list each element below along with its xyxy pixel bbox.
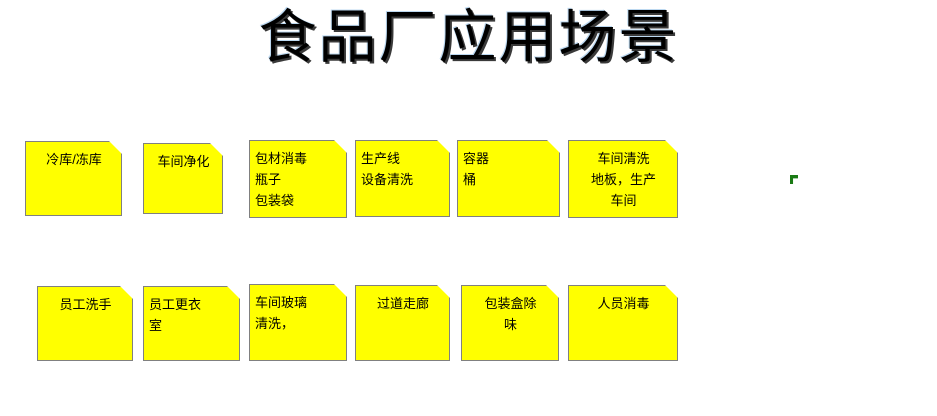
note-box-label: 车间清洗 地板，生产 车间 xyxy=(574,148,673,211)
note-box-label: 车间净化 xyxy=(149,151,218,172)
note-box-label: 生产线 设备清洗 xyxy=(361,148,445,190)
green-flag-icon xyxy=(790,175,798,184)
note-box-personnel-disinfection[interactable]: 人员消毒 xyxy=(568,285,678,361)
note-box-workshop-glass-cleaning[interactable]: 车间玻璃 清洗， xyxy=(249,284,347,361)
note-box-employee-locker-room[interactable]: 员工更衣 室 xyxy=(143,286,240,361)
note-box-employee-handwash[interactable]: 员工洗手 xyxy=(37,286,133,361)
note-box-workshop-cleaning[interactable]: 车间清洗 地板，生产 车间 xyxy=(568,140,678,218)
note-box-production-line[interactable]: 生产线 设备清洗 xyxy=(355,140,450,217)
note-box-label: 员工更衣 室 xyxy=(149,294,235,336)
note-box-label: 车间玻璃 清洗， xyxy=(255,292,342,334)
note-box-packaging-deodorize[interactable]: 包装盒除 味 xyxy=(461,285,559,361)
page-title: 食品厂应用场景 xyxy=(0,2,937,74)
note-box-container[interactable]: 容器 桶 xyxy=(457,140,560,217)
note-box-corridor[interactable]: 过道走廊 xyxy=(355,285,450,361)
note-box-label: 员工洗手 xyxy=(43,294,128,315)
note-box-workshop-purification[interactable]: 车间净化 xyxy=(143,143,223,214)
note-box-label: 包装盒除 味 xyxy=(467,293,554,335)
note-box-label: 过道走廊 xyxy=(361,293,445,314)
note-box-packaging-disinfection[interactable]: 包材消毒 瓶子 包装袋 xyxy=(249,140,347,218)
note-box-label: 容器 桶 xyxy=(463,148,555,190)
note-box-label: 冷库/冻库 xyxy=(31,149,117,170)
note-box-cold-storage[interactable]: 冷库/冻库 xyxy=(25,141,122,216)
note-box-label: 人员消毒 xyxy=(574,293,673,314)
note-box-label: 包材消毒 瓶子 包装袋 xyxy=(255,148,342,211)
